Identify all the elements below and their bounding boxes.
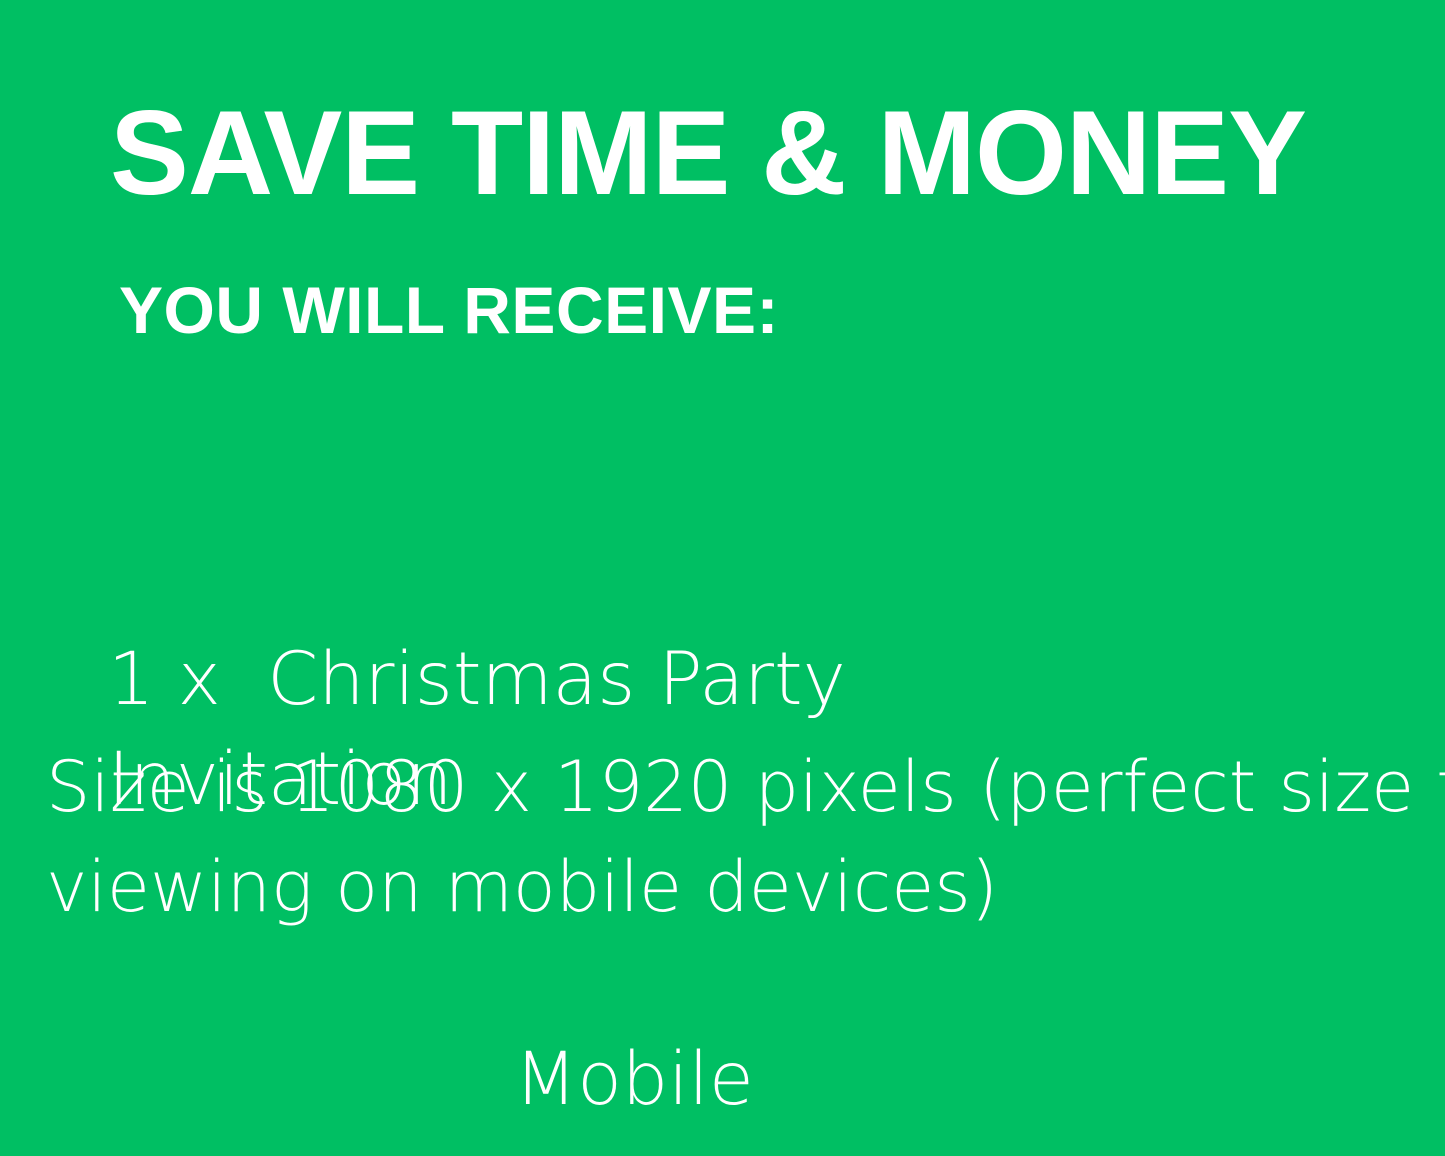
page-title: SAVE TIME & MONEY [110,93,1361,213]
size-note: Size is 1080 x 1920 pixels (perfect size… [46,737,1346,937]
size-note-line-2: viewing on mobile devices) [46,837,1346,937]
promo-card: SAVE TIME & MONEY YOU WILL RECEIVE: 1 x … [0,0,1445,1156]
subheading-you-will-receive: YOU WILL RECEIVE: [119,277,779,343]
size-note-line-1: Size is 1080 x 1920 pixels (perfect size… [46,737,1346,837]
product-line-secondary: Mobile [108,1030,1160,1130]
